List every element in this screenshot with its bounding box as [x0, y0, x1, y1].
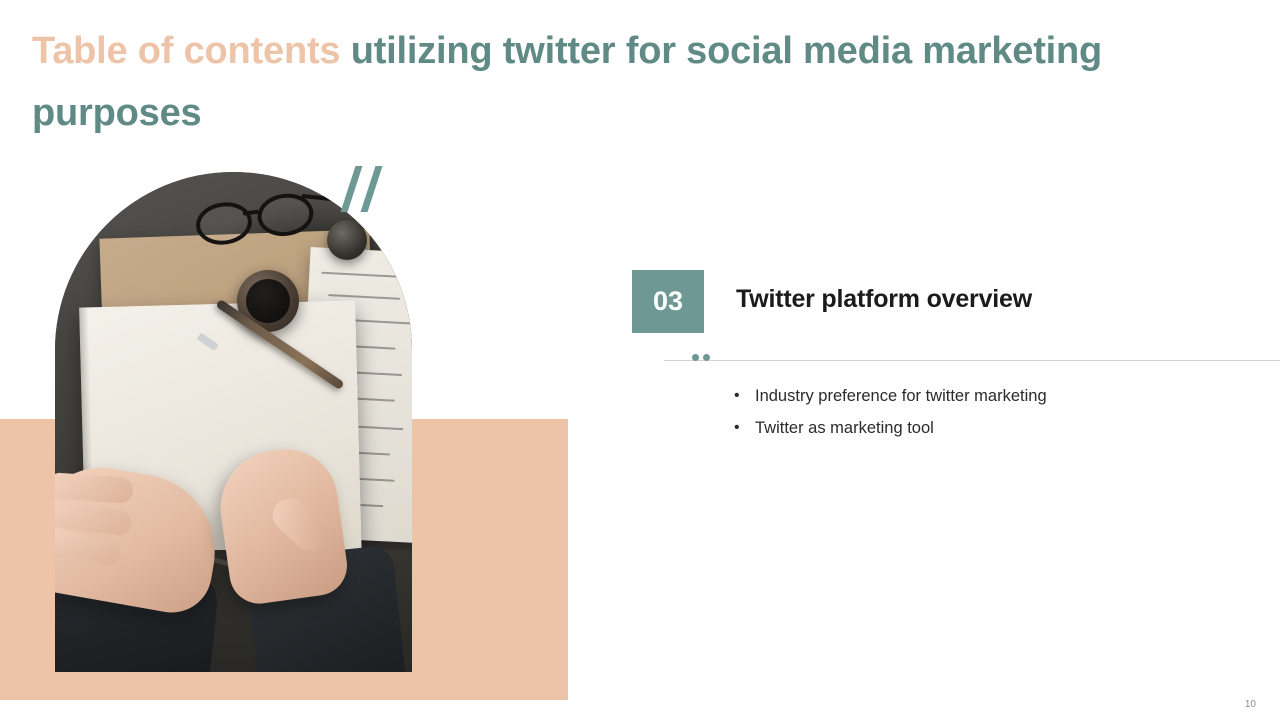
page-title-accent: Table of contents — [32, 30, 351, 72]
section-title: Twitter platform overview — [736, 285, 1032, 314]
section-number-badge: 03 — [632, 270, 704, 333]
section-bullet-list: Industry preference for twitter marketin… — [732, 380, 1047, 444]
quote-slash-decoration — [342, 166, 398, 212]
page-title: Table of contents utilizing twitter for … — [32, 20, 1242, 144]
photo-desk-background — [55, 172, 412, 672]
ink-jar-lid — [327, 220, 367, 260]
dot-1 — [692, 354, 699, 361]
list-item: Twitter as marketing tool — [732, 412, 1047, 444]
divider-dots — [692, 354, 710, 361]
section-divider — [664, 360, 1280, 361]
arch-photo — [55, 172, 412, 672]
page-number: 10 — [1245, 699, 1256, 710]
dot-2 — [703, 354, 710, 361]
list-item: Industry preference for twitter marketin… — [732, 380, 1047, 412]
